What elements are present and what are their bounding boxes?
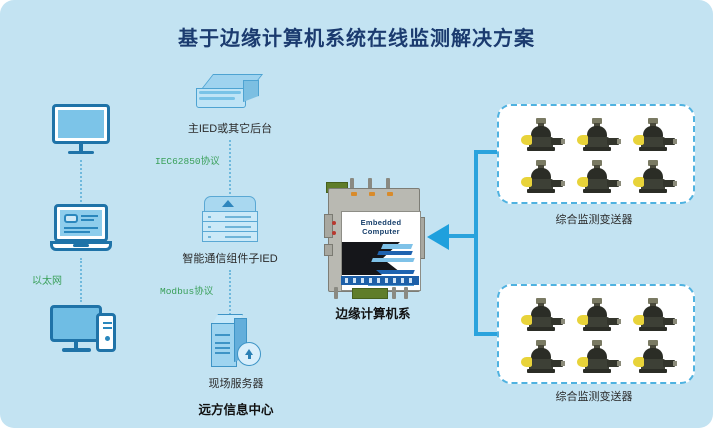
sensor-panel-top — [497, 104, 695, 204]
router-box-icon — [196, 74, 264, 116]
list-item — [577, 298, 621, 332]
sub-ied-caption: 智能通信组件子IED — [155, 250, 305, 266]
bracket-vertical — [474, 150, 478, 336]
diagram-canvas: 基于边缘计算机系统在线监测解决方案 以太网 — [0, 0, 713, 428]
sensor-panel-bottom-caption: 综合监测变送器 — [534, 388, 654, 404]
desktop-pc-icon — [50, 305, 120, 361]
sensor-panel-top-caption: 综合监测变送器 — [534, 211, 654, 227]
list-item — [521, 298, 565, 332]
bracket-stem — [449, 234, 475, 238]
list-item — [521, 340, 565, 374]
connector-monitor-laptop — [80, 160, 82, 202]
edge-face-text: Embedded Computer — [342, 218, 420, 236]
ethernet-label: 以太网 — [32, 272, 62, 288]
stacked-switch-icon — [202, 196, 258, 246]
list-item — [633, 298, 677, 332]
list-item — [521, 160, 565, 194]
list-item — [577, 118, 621, 152]
modbus-protocol-label: Modbus协议 — [160, 283, 213, 297]
main-ied-caption: 主IED或其它后台 — [160, 120, 300, 136]
sensor-panel-bottom — [497, 284, 695, 384]
edge-computer-device: Embedded Computer — [322, 178, 424, 300]
list-item — [521, 118, 565, 152]
edge-computer-caption: 边缘计算机系 — [313, 303, 433, 322]
page-title: 基于边缘计算机系统在线监测解决方案 — [0, 22, 713, 51]
list-item — [633, 160, 677, 194]
remote-info-center-label: 远方信息中心 — [176, 399, 296, 418]
list-item — [633, 118, 677, 152]
list-item — [633, 340, 677, 374]
iec-protocol-label: IEC62850协议 — [155, 153, 220, 167]
flow-arrow-icon — [427, 224, 449, 250]
connector-ied-subied — [229, 140, 231, 198]
field-server-caption: 现场服务器 — [176, 375, 296, 391]
list-item — [577, 340, 621, 374]
laptop-icon — [50, 204, 112, 254]
connector-laptop-pc — [80, 258, 82, 302]
desktop-monitor-icon — [52, 104, 110, 156]
list-item — [577, 160, 621, 194]
connector-subied-server — [229, 270, 231, 318]
server-tower-icon — [205, 314, 267, 370]
